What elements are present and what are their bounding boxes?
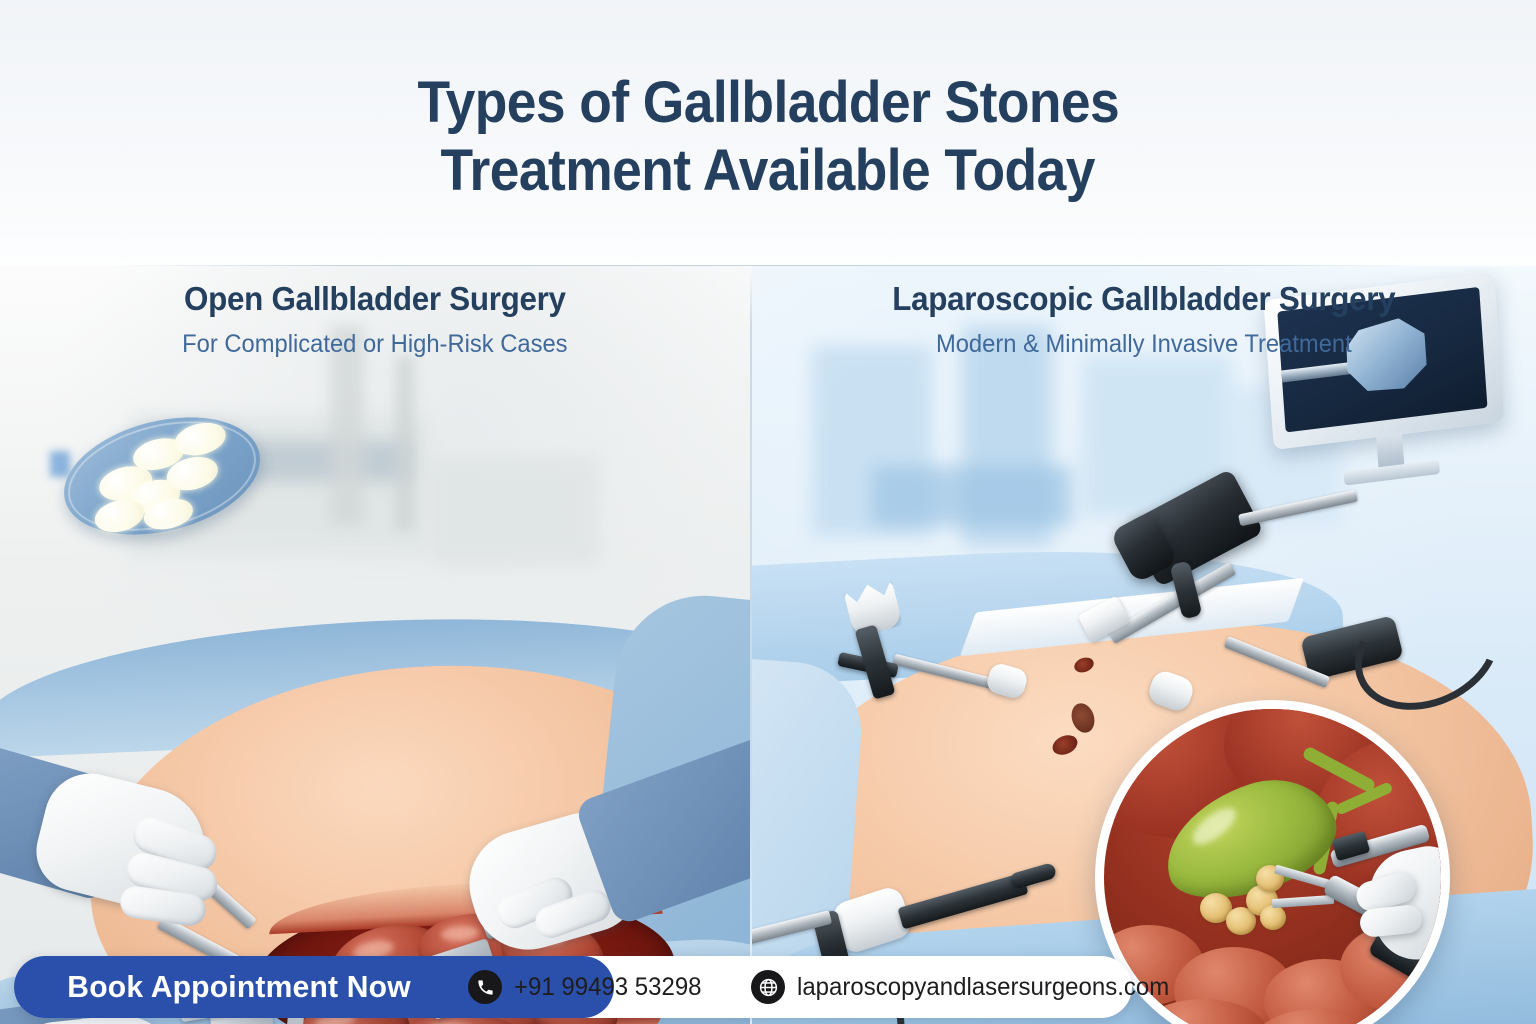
website-url[interactable]: laparoscopyandlasersurgeons.com	[797, 973, 1169, 1002]
footer-bar: Book Appointment Now +91 99493 53298 l	[0, 950, 1536, 1024]
panel-divider	[750, 266, 752, 1024]
or-equipment-blur	[872, 466, 1072, 526]
panel-heading-open: Open Gallbladder Surgery For Complicated…	[0, 266, 750, 396]
panel-subtitle-laparoscopic: Modern & Minimally Invasive Treatment	[936, 330, 1352, 359]
panel-open-surgery: Open Gallbladder Surgery For Complicated…	[0, 266, 750, 1024]
phone-number[interactable]: +91 99493 53298	[514, 973, 702, 1002]
or-equipment-blur	[430, 456, 600, 566]
book-appointment-label: Book Appointment Now	[67, 969, 411, 1005]
poster-header: Types of Gallbladder Stones Treatment Av…	[0, 0, 1536, 266]
page-title-line-1: Types of Gallbladder Stones	[417, 69, 1119, 137]
contact-info: +91 99493 53298 laparoscopyandlasersurge…	[468, 956, 1185, 1018]
gallstone	[1260, 905, 1286, 930]
infographic-poster: Types of Gallbladder Stones Treatment Av…	[0, 0, 1536, 1024]
panel-subtitle-open: For Complicated or High-Risk Cases	[182, 330, 567, 359]
panel-heading-laparoscopic: Laparoscopic Gallbladder Surgery Modern …	[752, 266, 1536, 396]
grasper-jaw	[1272, 895, 1334, 908]
panel-title-laparoscopic: Laparoscopic Gallbladder Surgery	[892, 280, 1395, 318]
globe-icon	[751, 970, 785, 1004]
panel-title-open: Open Gallbladder Surgery	[184, 280, 566, 318]
phone-icon	[468, 970, 502, 1004]
page-title-line-2: Treatment Available Today	[441, 137, 1095, 205]
